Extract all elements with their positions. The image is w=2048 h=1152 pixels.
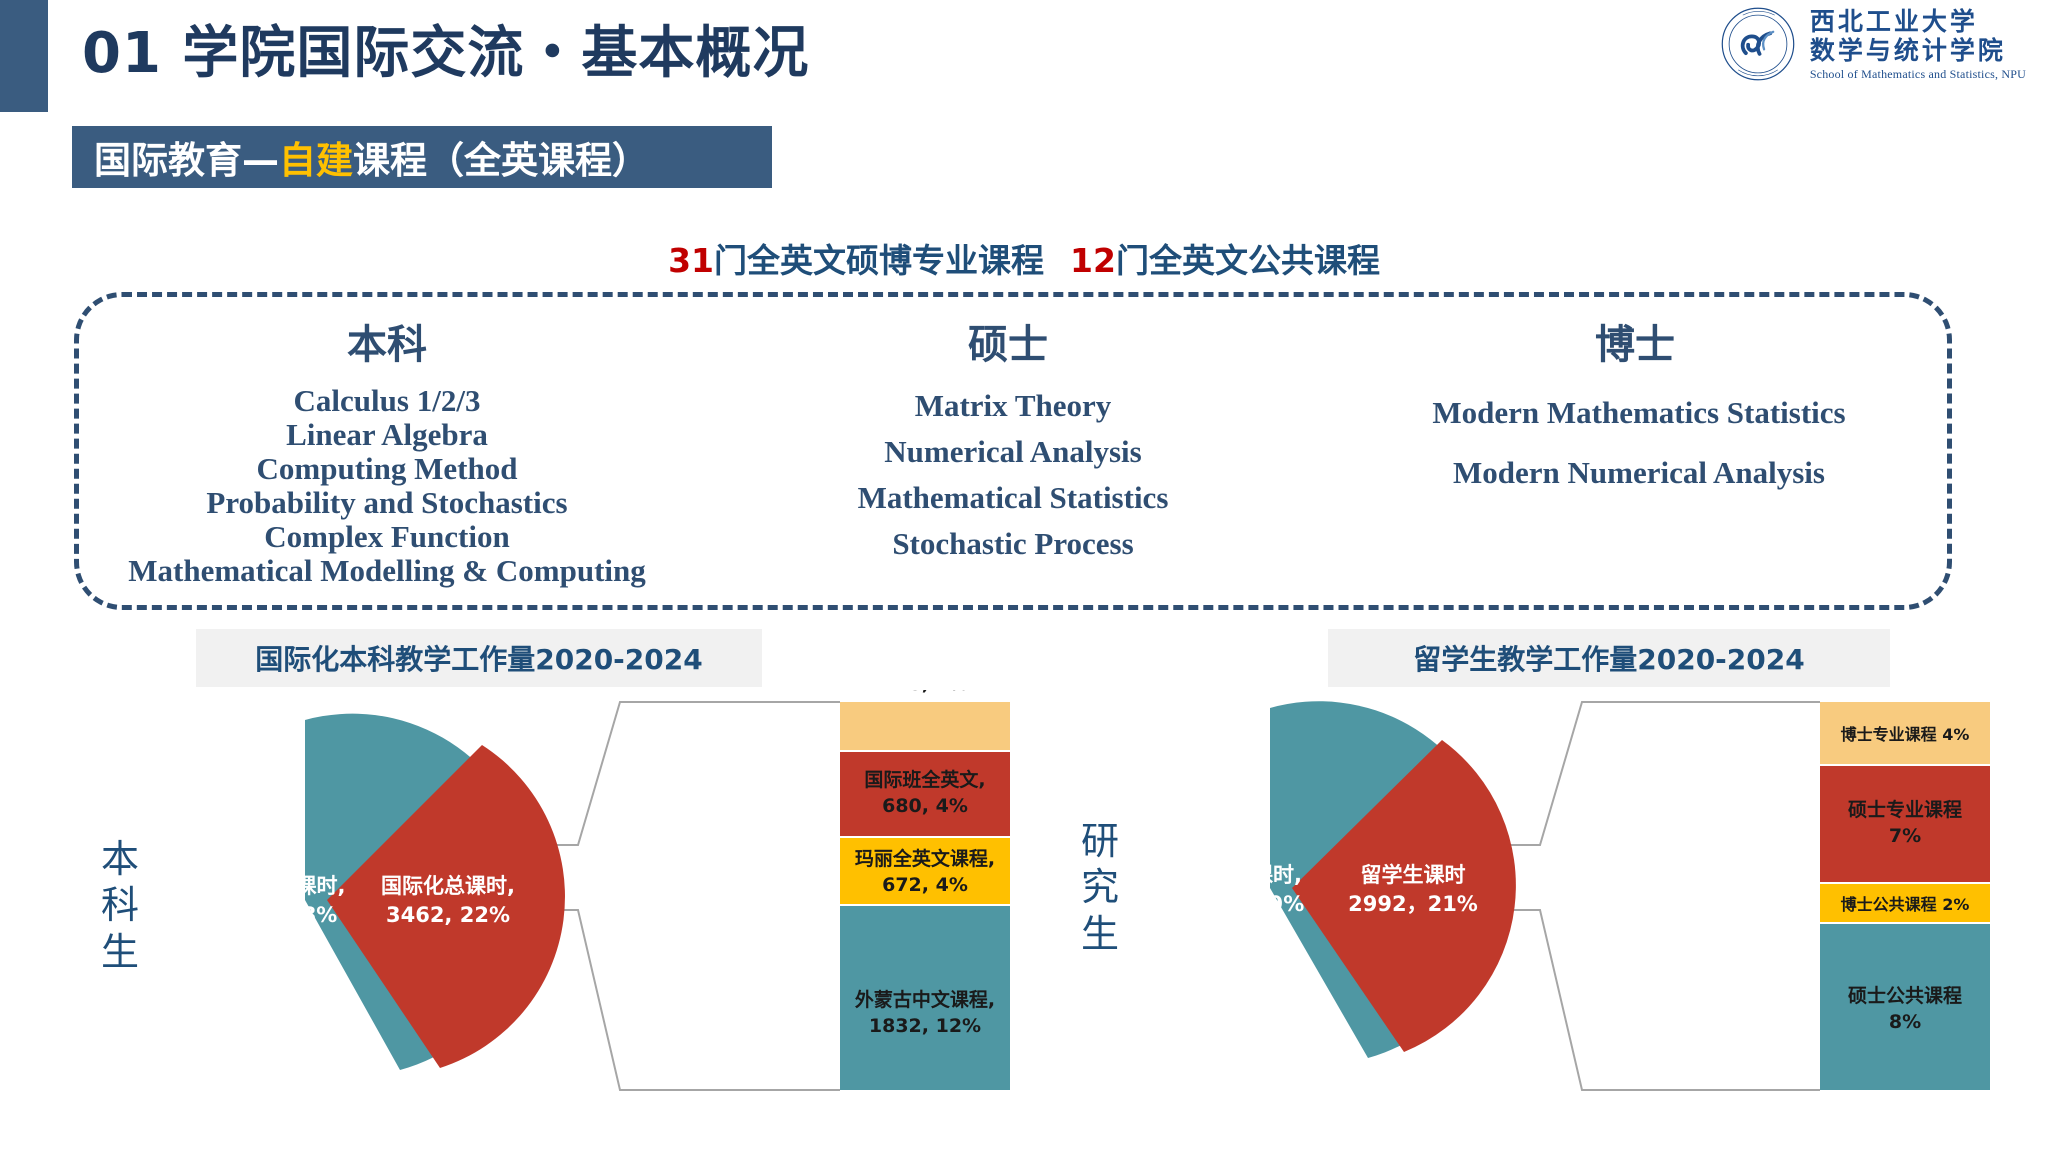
bar-label-master-major-line1: 硕士专业课程 (1848, 798, 1962, 821)
headline-num-1: 31 (668, 241, 714, 280)
pie-label-intl-line2: 2992，21% (1348, 892, 1478, 916)
course-column-undergraduate: 本科 Calculus 1/2/3 Linear Algebra Computi… (74, 292, 700, 610)
bar-label-intlclass-line2: 680, 4% (882, 795, 968, 817)
course-item: Stochastic Process (700, 522, 1326, 566)
bar-label-phd-public: 博士公共课程 2% (1841, 895, 1970, 914)
university-logo: 西北工业大学 数学与统计学院 School of Mathematics and… (1720, 6, 2026, 82)
university-seal-icon (1720, 6, 1796, 82)
bar-segment-summer-school (840, 702, 1010, 750)
chart-title-undergrad: 国际化本科教学工作量2020-2024 (255, 638, 702, 678)
pie-label-international-line2: 3462, 22% (386, 903, 510, 927)
headline-text-1: 门全英文硕博专业课程 (714, 241, 1044, 280)
bar-label-marie-line2: 672, 4% (882, 874, 968, 896)
course-item: Linear Algebra (74, 418, 700, 452)
bar-label-marie-line1: 玛丽全英文课程, (855, 847, 995, 870)
pie-label-non-international-line2: 12276, 78% (199, 903, 338, 927)
pie-label-non-intl-line2: 11608, 79% (1166, 892, 1305, 916)
course-item: Numerical Analysis (700, 430, 1326, 474)
logo-en-line: School of Mathematics and Statistics, NP… (1810, 68, 2026, 80)
bar-label-master-public-line1: 硕士公共课程 (1848, 985, 1962, 1007)
course-count-headline: 31门全英文硕博专业课程12门全英文公共课程 (0, 234, 2048, 282)
chart-title-banner-intl: 留学生教学工作量2020-2024 (1328, 629, 1890, 687)
pie-label-international-line1: 国际化总课时, (381, 874, 515, 898)
bar-label-intlclass-line1: 国际班全英文, (864, 768, 985, 791)
pie-label-non-international-line1: 非国际化总课时, (191, 874, 346, 898)
bar-label-phd-major: 博士专业课程 4% (1841, 725, 1970, 744)
course-items-undergraduate: Calculus 1/2/3 Linear Algebra Computing … (74, 384, 700, 589)
course-item: Calculus 1/2/3 (74, 384, 700, 418)
subtitle-highlight: 自建 (279, 139, 353, 182)
course-column-phd: 博士 Modern Mathematics Statistics Modern … (1326, 292, 1952, 610)
logo-cn-line1: 西北工业大学 (1810, 9, 2026, 34)
course-item: Complex Function (74, 520, 700, 554)
pie-label-non-intl-line1: 非留学生课时, (1168, 863, 1302, 887)
pie-of-bar-chart-intl: 非留学生课时, 11608, 79% 留学生课时 2992，21% 博士专业课程… (1120, 690, 2020, 1110)
page-title: 01 学院国际交流・基本概况 (82, 8, 809, 89)
side-label-char: 生 (92, 929, 148, 975)
subtitle-text: 国际教育—自建课程（全英课程） (72, 130, 649, 184)
course-item: Mathematical Modelling & Computing (74, 554, 700, 588)
chart-side-label-undergrad: 本科生 (92, 836, 148, 975)
subtitle-prefix: 国际教育— (94, 139, 279, 182)
bar-segment-master-major (1820, 766, 1990, 882)
course-column-master: 硕士 Matrix Theory Numerical Analysis Math… (700, 292, 1326, 610)
header-accent-bar (0, 0, 48, 112)
headline-num-2: 12 (1070, 241, 1116, 280)
course-column-head-master: 硕士 (690, 312, 1326, 370)
chart-title-banner-undergrad: 国际化本科教学工作量2020-2024 (196, 629, 762, 687)
pie-label-intl-line1: 留学生课时 (1361, 863, 1466, 887)
bar-label-master-major-line2: 7% (1889, 825, 1921, 847)
bar-label-master-public-line2: 8% (1889, 1011, 1921, 1033)
pie-of-bar-chart-undergrad: 非国际化总课时, 12276, 78% 国际化总课时, 3462, 22% 暑期… (150, 690, 1050, 1110)
course-column-head-undergraduate: 本科 (74, 312, 700, 370)
bar-label-mongolia-line1: 外蒙古中文课程, (855, 988, 995, 1011)
headline-text-2: 门全英文公共课程 (1116, 241, 1380, 280)
subtitle-suffix: 课程（全英课程） (353, 139, 649, 182)
subtitle-banner: 国际教育—自建课程（全英课程） (72, 126, 772, 188)
course-item: Modern Numerical Analysis (1326, 456, 1952, 490)
course-item: Modern Mathematics Statistics (1326, 396, 1952, 430)
course-column-head-phd: 博士 (1318, 312, 1952, 370)
course-columns: 本科 Calculus 1/2/3 Linear Algebra Computi… (74, 292, 1952, 610)
course-item: Mathematical Statistics (700, 476, 1326, 520)
bar-label-summer-line2: 278, 2% (882, 690, 968, 695)
bar-label-mongolia-line2: 1832, 12% (869, 1015, 981, 1037)
course-item: Computing Method (74, 452, 700, 486)
chart-title-intl: 留学生教学工作量2020-2024 (1413, 638, 1804, 678)
side-label-char: 本 (92, 836, 148, 882)
course-items-phd: Modern Mathematics Statistics Modern Num… (1326, 396, 1952, 490)
course-items-master: Matrix Theory Numerical Analysis Mathema… (700, 384, 1326, 566)
course-item: Probability and Stochastics (74, 486, 700, 520)
logo-cn-line2: 数学与统计学院 (1810, 38, 2026, 63)
slide-root: 01 学院国际交流・基本概况 国际教育—自建课程（全英课程） 西北工业大学 数学… (0, 0, 2048, 1152)
bar-segment-international-class (840, 752, 1010, 836)
bar-segment-master-public (1820, 924, 1990, 1090)
side-label-char: 科 (92, 882, 148, 928)
logo-text-block: 西北工业大学 数学与统计学院 School of Mathematics and… (1810, 9, 2026, 80)
course-item: Matrix Theory (700, 384, 1326, 428)
